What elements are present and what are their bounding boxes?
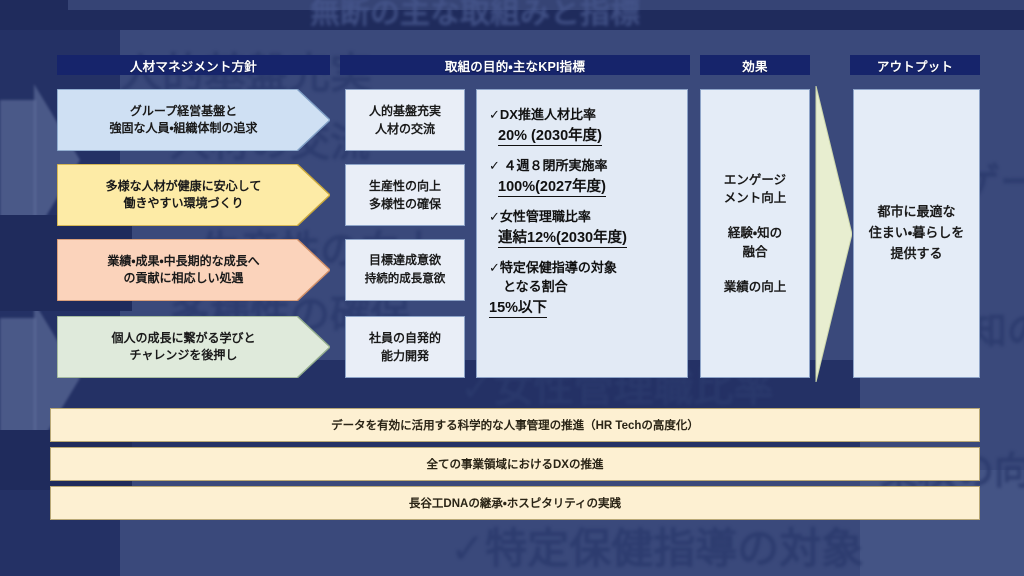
purpose-box-4[interactable]: 社員の自発的能力開発 (345, 316, 465, 378)
column-header-policy: 人材マネジメント方針 (57, 55, 330, 75)
kpi-check-icon-2: ✓ (489, 158, 500, 173)
output-panel: 都市に最適な住まい・暮らしを提供する (853, 89, 980, 378)
purpose-box-2-text: 生産性の向上多様性の確保 (369, 177, 441, 213)
foreground-diagram: 人材マネジメント方針 取組の目的・主なKPI指標 効果 アウトプット グループ経… (0, 0, 1024, 576)
bottom-bar-2[interactable]: 全ての事業領域におけるDXの推進 (50, 447, 980, 481)
slide-canvas: 無断の主な取組みと指標 人的基盤充実 人材の交流 生産性の向上 多様性の確保 ✓… (0, 0, 1024, 576)
policy-arrow-1-text: グループ経営基盤と強固な人員・組織体制の追求 (109, 103, 257, 138)
effect-item-1: エンゲージメント向上 (724, 171, 787, 207)
purpose-box-1-text: 人的基盤充実人材の交流 (369, 102, 441, 138)
bottom-bar-1-label: データを有効に活用する科学的な人事管理の推進（HR Techの高度化） (331, 417, 699, 433)
column-header-kpi: 取組の目的・主なKPI指標 (340, 55, 690, 75)
effect-panel: エンゲージメント向上 経験・知の融合 業績の向上 (700, 89, 810, 378)
policy-arrow-1[interactable]: グループ経営基盤と強固な人員・組織体制の追求 (57, 89, 330, 151)
kpi-item-1: ✓DX推進人材比率 20% (2030年度) (489, 104, 679, 146)
bottom-bar-3-label: 長谷工DNAの継承・ホスピタリティの実践 (409, 495, 621, 511)
column-header-effect: 効果 (700, 55, 810, 75)
kpi-item-4: ✓特定保健指導の対象 となる割合 15%以下 (489, 257, 679, 318)
column-header-output: アウトプット (850, 55, 980, 75)
policy-arrow-3[interactable]: 業績・成果・中長期的な成長への貢献に相応しい処遇 (57, 239, 330, 301)
kpi-item-3: ✓女性管理職比率 連結12%(2030年度) (489, 206, 679, 248)
purpose-box-2[interactable]: 生産性の向上多様性の確保 (345, 164, 465, 226)
kpi-check-icon-1: ✓ (489, 107, 500, 122)
policy-arrow-2[interactable]: 多様な人材が健康に安心して働きやすい環境づくり (57, 164, 330, 226)
kpi-check-icon-3: ✓ (489, 209, 500, 224)
bottom-bar-2-label: 全ての事業領域におけるDXの推進 (427, 456, 604, 472)
effect-item-2: 経験・知の融合 (728, 224, 782, 260)
bottom-bar-1[interactable]: データを有効に活用する科学的な人事管理の推進（HR Techの高度化） (50, 408, 980, 442)
kpi-panel: ✓DX推進人材比率 20% (2030年度) ✓ ４週８閉所実施率 100%(2… (476, 89, 688, 378)
policy-arrow-4[interactable]: 個人の成長に繋がる学びとチャレンジを後押し (57, 316, 330, 378)
policy-arrow-3-text: 業績・成果・中長期的な成長への貢献に相応しい処遇 (107, 253, 259, 288)
purpose-box-1[interactable]: 人的基盤充実人材の交流 (345, 89, 465, 151)
effect-item-3: 業績の向上 (724, 278, 787, 296)
policy-arrow-4-text: 個人の成長に繋がる学びとチャレンジを後押し (111, 330, 255, 365)
output-text: 都市に最適な住まい・暮らしを提供する (869, 202, 964, 264)
kpi-item-2: ✓ ４週８閉所実施率 100%(2027年度) (489, 155, 679, 197)
bottom-bar-3[interactable]: 長谷工DNAの継承・ホスピタリティの実践 (50, 486, 980, 520)
policy-arrow-2-text: 多様な人材が健康に安心して働きやすい環境づくり (106, 178, 262, 213)
purpose-box-3[interactable]: 目標達成意欲持続的成長意欲 (345, 239, 465, 301)
purpose-box-3-text: 目標達成意欲持続的成長意欲 (365, 251, 446, 288)
flow-arrow-icon (812, 86, 852, 382)
kpi-check-icon-4: ✓ (489, 260, 500, 275)
purpose-box-4-text: 社員の自発的能力開発 (369, 329, 441, 365)
